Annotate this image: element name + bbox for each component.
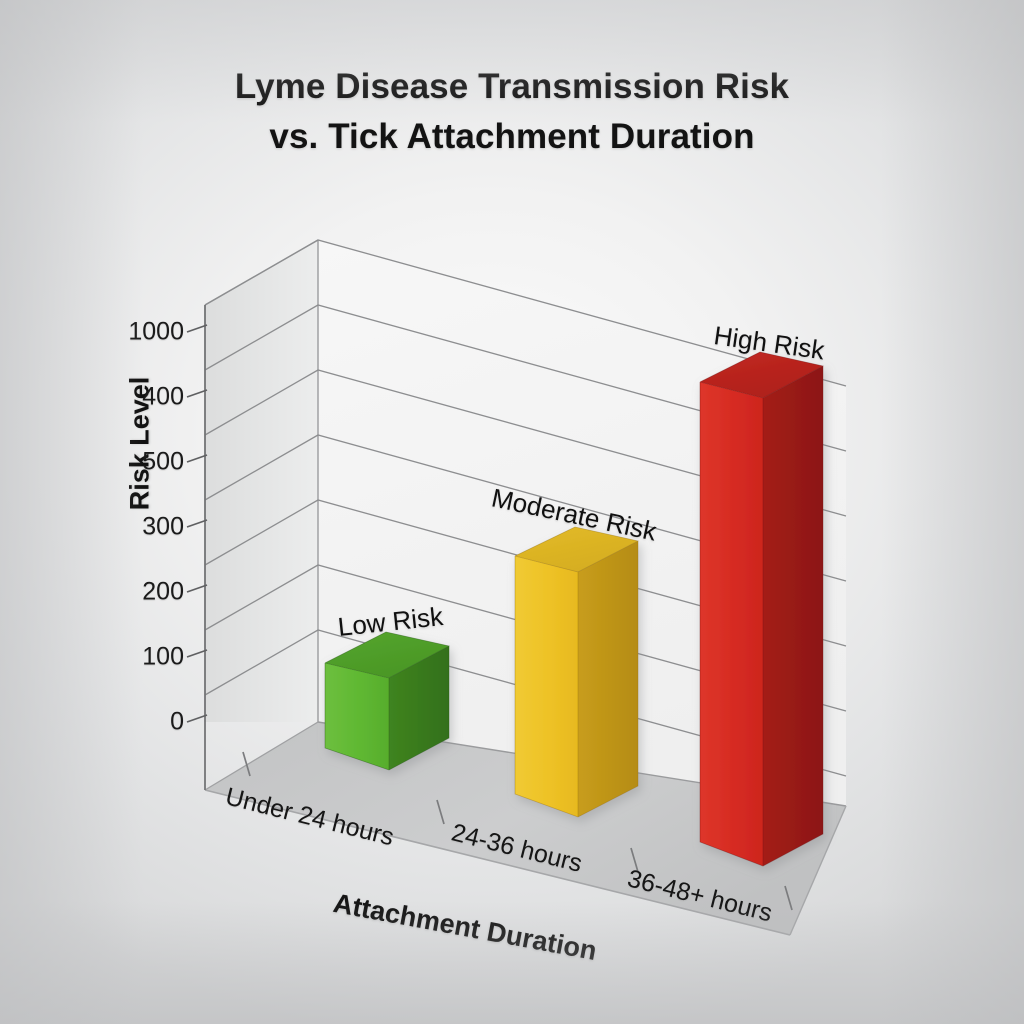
chart-title: Lyme Disease Transmission Risk vs. Tick … [0, 62, 1024, 161]
bar-high-risk[interactable] [700, 352, 823, 866]
y-axis-ticks [187, 325, 207, 722]
bar-moderate-risk[interactable] [515, 527, 638, 817]
plot-left-wall [205, 240, 318, 722]
chart-canvas: Lyme Disease Transmission Risk vs. Tick … [0, 0, 1024, 1024]
